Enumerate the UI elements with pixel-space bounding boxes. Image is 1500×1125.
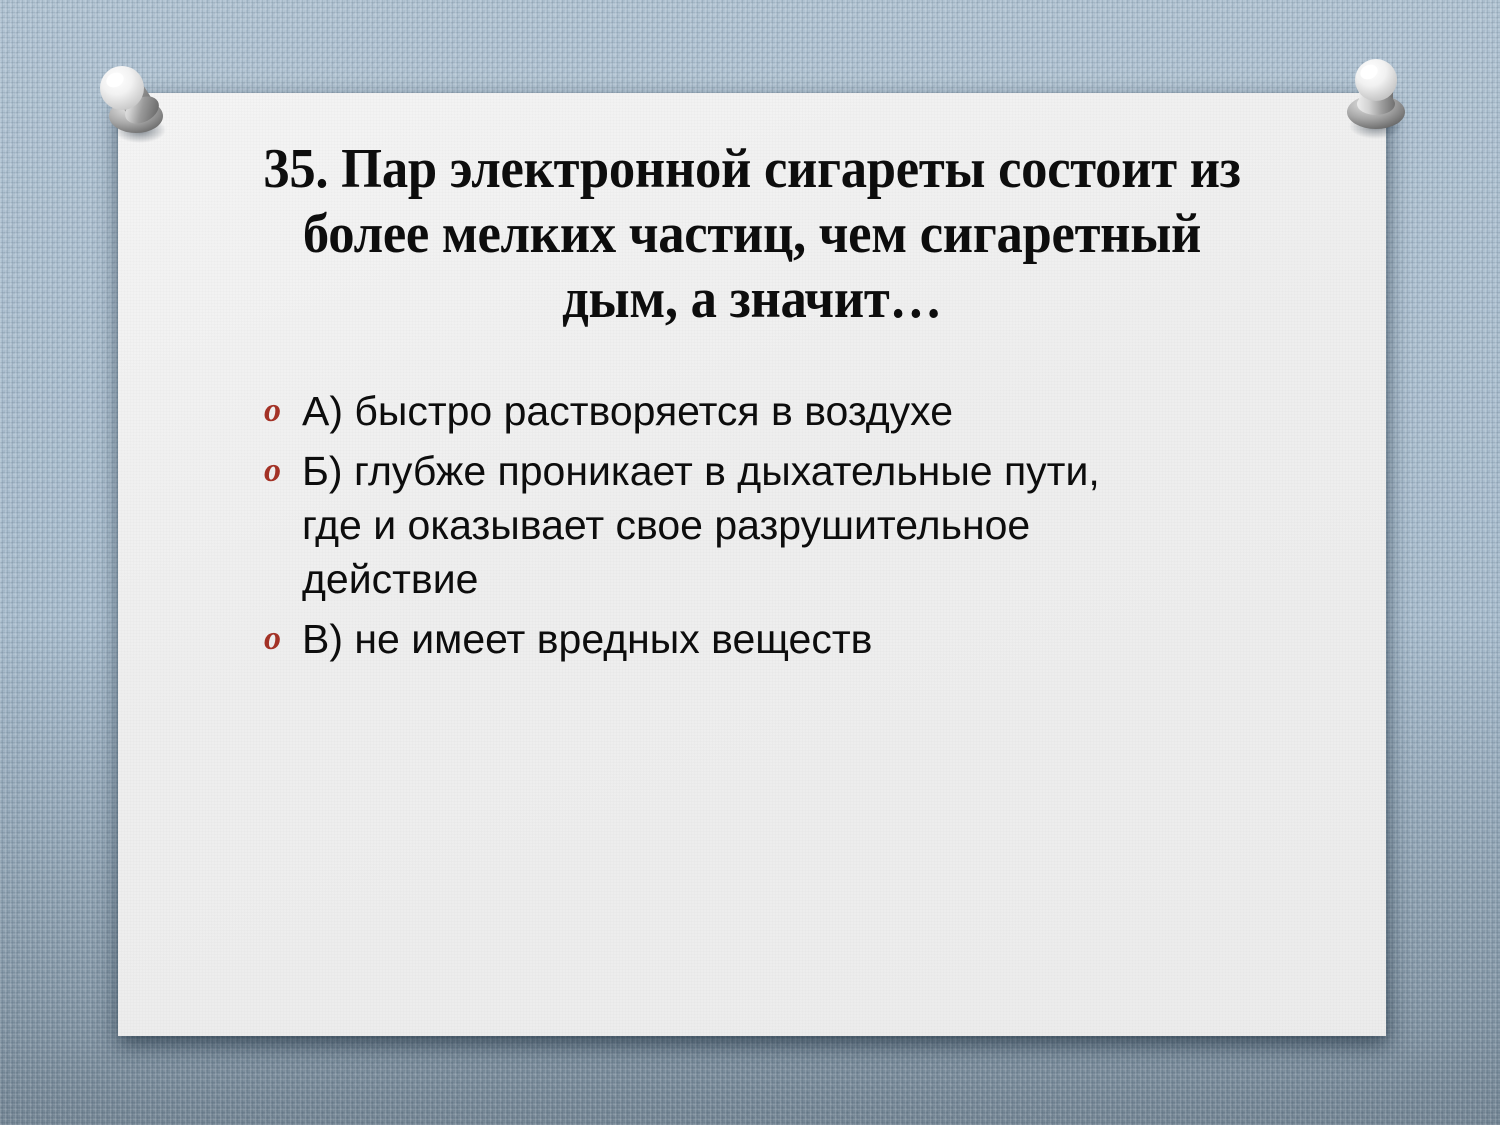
paper-sheet: 35. Пар электронной сигареты состоит из …	[118, 93, 1386, 1036]
answer-option-c-label: В) не имеет вредных веществ	[302, 612, 872, 666]
bullet-marker-icon: o	[260, 444, 302, 498]
answer-option-a-label: А) быстро растворяется в воздухе	[302, 384, 953, 438]
answer-option-b-label: Б) глубже проникает в дыхательные пути, …	[302, 444, 1142, 606]
list-item[interactable]: o Б) глубже проникает в дыхательные пути…	[260, 444, 1316, 606]
list-item[interactable]: o В) не имеет вредных веществ	[260, 612, 1316, 666]
bullet-marker-icon: o	[260, 384, 302, 438]
list-item[interactable]: o А) быстро растворяется в воздухе	[260, 384, 1316, 438]
bullet-marker-icon: o	[260, 612, 302, 666]
slide-title: 35. Пар электронной сигареты состоит из …	[244, 137, 1259, 332]
paper-content: 35. Пар электронной сигареты состоит из …	[118, 93, 1386, 1036]
answer-options-list: o А) быстро растворяется в воздухе o Б) …	[188, 384, 1316, 666]
slide-canvas: 35. Пар электронной сигареты состоит из …	[0, 0, 1500, 1125]
